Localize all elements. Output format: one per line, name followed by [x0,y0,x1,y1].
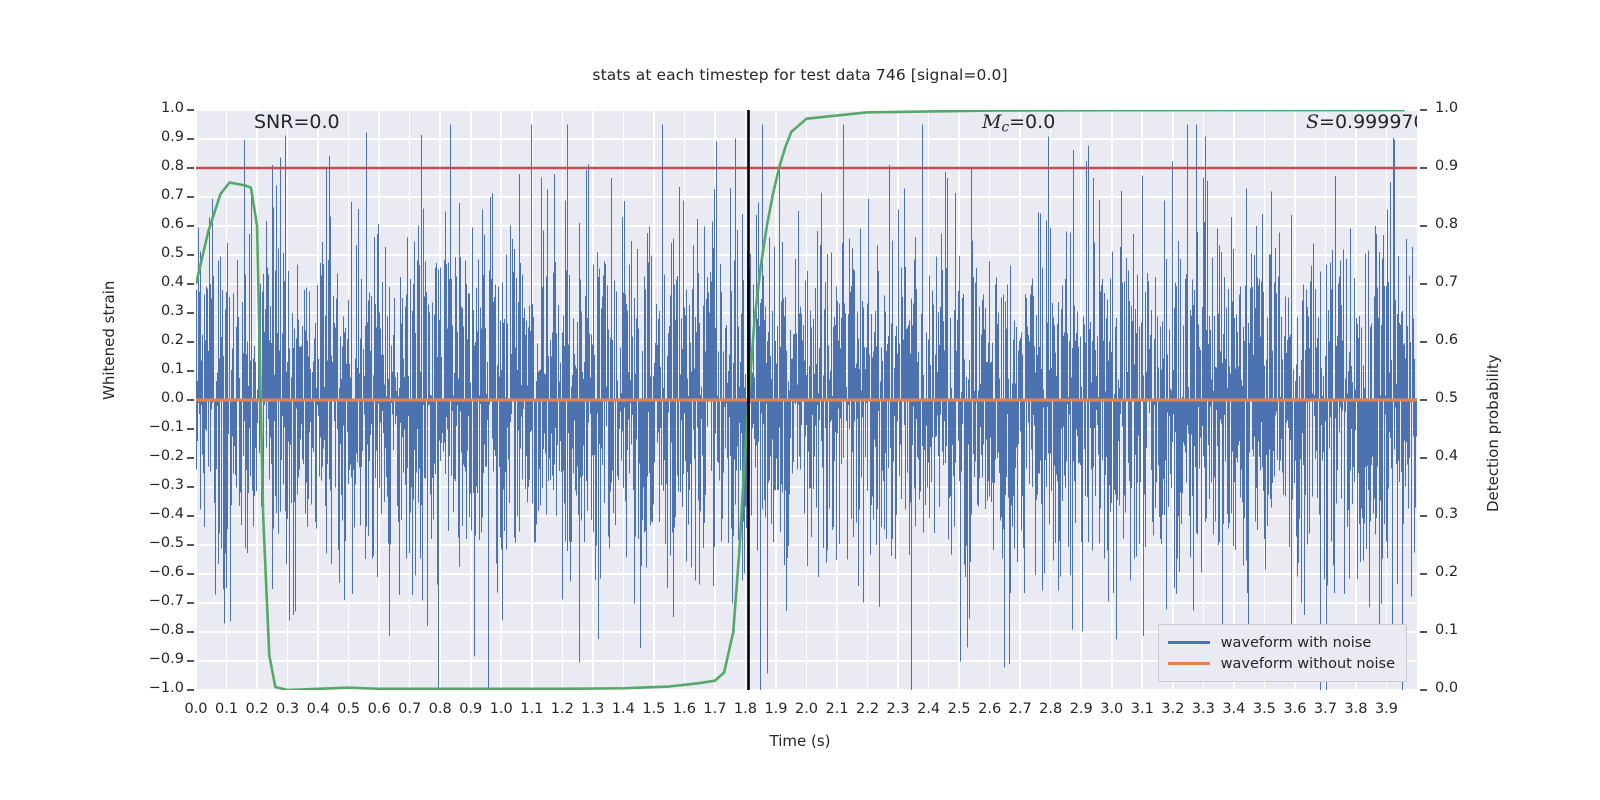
y-tick-mark-right [1420,109,1427,111]
y-tick-mark-right [1420,283,1427,285]
y-tick-mark-left [187,370,194,372]
y-tick-mark-left [187,341,194,343]
y-tick-label-left: 0.8 [132,158,184,174]
y-tick-mark-left [187,689,194,691]
y-tick-label-right: 0.2 [1435,564,1458,580]
y-tick-label-right: 1.0 [1435,100,1458,116]
annotation-chirp-mass-value: =0.0 [1009,111,1055,133]
y-axis-label-left: Whitened strain [100,281,118,400]
y-tick-mark-left [187,167,194,169]
y-tick-label-right: 0.4 [1435,448,1458,464]
annotation-chirp-mass-symbol: M [982,111,1001,133]
y-tick-mark-left [187,631,194,633]
annotation-snr: SNR=0.0 [254,111,340,133]
y-tick-mark-left [187,544,194,546]
y-tick-label-left: 0.0 [132,390,184,406]
y-tick-label-left: 0.9 [132,129,184,145]
y-tick-mark-right [1420,631,1427,633]
y-tick-label-right: 0.0 [1435,680,1458,696]
y-tick-label-left: 0.7 [132,187,184,203]
y-tick-mark-right [1420,573,1427,575]
y-tick-label-right: 0.8 [1435,216,1458,232]
y-tick-label-left: 0.3 [132,303,184,319]
y-tick-label-left: −0.1 [132,419,184,435]
y-tick-label-left: −0.2 [132,448,184,464]
annotation-score: S=0.9999707937240601 [1306,111,1417,133]
y-tick-mark-left [187,254,194,256]
y-tick-label-left: 0.4 [132,274,184,290]
y-tick-mark-right [1420,399,1427,401]
y-tick-label-left: −0.3 [132,477,184,493]
y-tick-mark-left [187,457,194,459]
x-tick-label: 3.9 [1364,701,1408,717]
y-tick-mark-left [187,196,194,198]
waveform-svg [196,110,1417,690]
legend-label-waveform-without-noise: waveform without noise [1221,656,1395,672]
y-tick-mark-left [187,399,194,401]
y-tick-mark-right [1420,689,1427,691]
y-tick-label-left: 1.0 [132,100,184,116]
annotation-score-value: =0.9999707937240601 [1319,111,1417,133]
annotation-score-symbol: S [1306,111,1319,133]
legend: waveform with noise waveform without noi… [1158,624,1407,682]
annotation-chirp-mass-subscript: c [1001,119,1009,135]
legend-label-waveform-with-noise: waveform with noise [1221,635,1372,651]
y-tick-mark-right [1420,457,1427,459]
y-tick-label-right: 0.1 [1435,622,1458,638]
y-tick-label-right: 0.3 [1435,506,1458,522]
legend-swatch-waveform-with-noise [1168,641,1210,644]
y-tick-mark-right [1420,225,1427,227]
y-tick-mark-left [187,225,194,227]
y-tick-label-left: −1.0 [132,680,184,696]
y-tick-label-left: −0.7 [132,593,184,609]
chart-title: stats at each timestep for test data 746… [0,66,1600,84]
y-tick-mark-left [187,602,194,604]
y-tick-label-right: 0.5 [1435,390,1458,406]
plot-area: SNR=0.0 Mc=0.0 S=0.9999707937240601 wave… [196,110,1417,690]
legend-item-waveform-with-noise: waveform with noise [1168,632,1395,653]
x-axis-label: Time (s) [0,732,1600,750]
y-tick-label-left: −0.9 [132,651,184,667]
figure-canvas: stats at each timestep for test data 746… [0,0,1600,800]
y-tick-label-left: −0.5 [132,535,184,551]
y-tick-mark-right [1420,341,1427,343]
y-tick-label-left: 0.5 [132,245,184,261]
y-tick-label-left: −0.4 [132,506,184,522]
y-tick-mark-left [187,573,194,575]
y-tick-mark-left [187,283,194,285]
y-tick-mark-left [187,138,194,140]
y-axis-label-right: Detection probability [1484,354,1502,512]
y-tick-mark-left [187,515,194,517]
annotation-chirp-mass: Mc=0.0 [982,111,1055,135]
y-tick-label-left: 0.1 [132,361,184,377]
y-tick-mark-right [1420,167,1427,169]
series-waveform-with-noise [197,125,1417,691]
legend-swatch-waveform-without-noise [1168,662,1210,665]
y-tick-mark-right [1420,515,1427,517]
y-tick-mark-left [187,312,194,314]
y-tick-label-left: −0.6 [132,564,184,580]
y-tick-mark-left [187,109,194,111]
y-tick-label-right: 0.7 [1435,274,1458,290]
y-tick-mark-left [187,428,194,430]
y-tick-label-right: 0.6 [1435,332,1458,348]
y-tick-label-left: 0.6 [132,216,184,232]
y-tick-mark-left [187,660,194,662]
data-layer [196,110,1417,690]
y-tick-label-left: −0.8 [132,622,184,638]
y-tick-label-right: 0.9 [1435,158,1458,174]
y-tick-mark-left [187,486,194,488]
legend-item-waveform-without-noise: waveform without noise [1168,653,1395,674]
y-tick-label-left: 0.2 [132,332,184,348]
